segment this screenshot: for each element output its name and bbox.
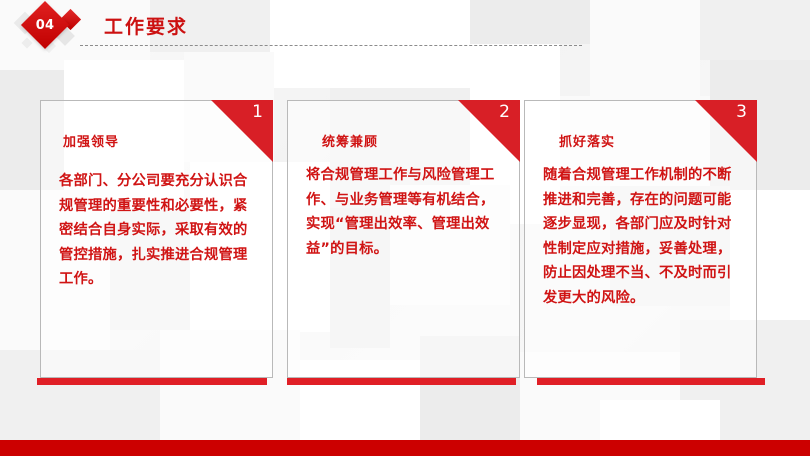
card-number: 1 bbox=[252, 104, 263, 121]
footer-bar bbox=[0, 440, 810, 456]
card-corner-flag: 2 bbox=[458, 100, 520, 162]
card-underbar-3 bbox=[537, 378, 765, 385]
card-heading: 抓好落实 bbox=[559, 131, 615, 150]
section-badge: 04 bbox=[14, 3, 90, 55]
card-corner-flag: 1 bbox=[211, 100, 273, 162]
card-number: 3 bbox=[736, 104, 747, 121]
card-underbar-1 bbox=[37, 378, 267, 385]
content-card-1: 1 加强领导 各部门、分公司要充分认识合规管理的重要性和必要性，紧密结合自身实际… bbox=[40, 100, 273, 378]
card-heading: 加强领导 bbox=[63, 131, 119, 150]
card-body-text: 随着合规管理工作机制的不断推进和完善，存在的问题可能逐步显现，各部门应及时针对性… bbox=[543, 163, 739, 310]
card-body-text: 各部门、分公司要充分认识合规管理的重要性和必要性，紧密结合自身实际，采取有效的管… bbox=[59, 169, 255, 292]
triangle-icon bbox=[211, 100, 273, 162]
card-underbar-2 bbox=[287, 378, 516, 385]
section-number: 04 bbox=[28, 8, 62, 42]
slide-header: 04 工作要求 bbox=[0, 0, 810, 60]
triangle-icon bbox=[458, 100, 520, 162]
card-heading: 统筹兼顾 bbox=[322, 131, 378, 150]
title-divider bbox=[80, 45, 582, 46]
card-body-text: 将合规管理工作与风险管理工作、与业务管理等有机结合，实现“管理出效率、管理出效益… bbox=[306, 163, 502, 261]
content-card-3: 3 抓好落实 随着合规管理工作机制的不断推进和完善，存在的问题可能逐步显现，各部… bbox=[524, 100, 757, 378]
card-corner-flag: 3 bbox=[695, 100, 757, 162]
triangle-icon bbox=[695, 100, 757, 162]
page-title: 工作要求 bbox=[104, 12, 188, 39]
slide-root: 04 工作要求 1 加强领导 各部门、分公司要充分认识合规管理的重要性和必要性，… bbox=[0, 0, 810, 456]
card-number: 2 bbox=[499, 104, 510, 121]
bg-block bbox=[600, 400, 720, 440]
content-card-2: 2 统筹兼顾 将合规管理工作与风险管理工作、与业务管理等有机结合，实现“管理出效… bbox=[287, 100, 520, 378]
